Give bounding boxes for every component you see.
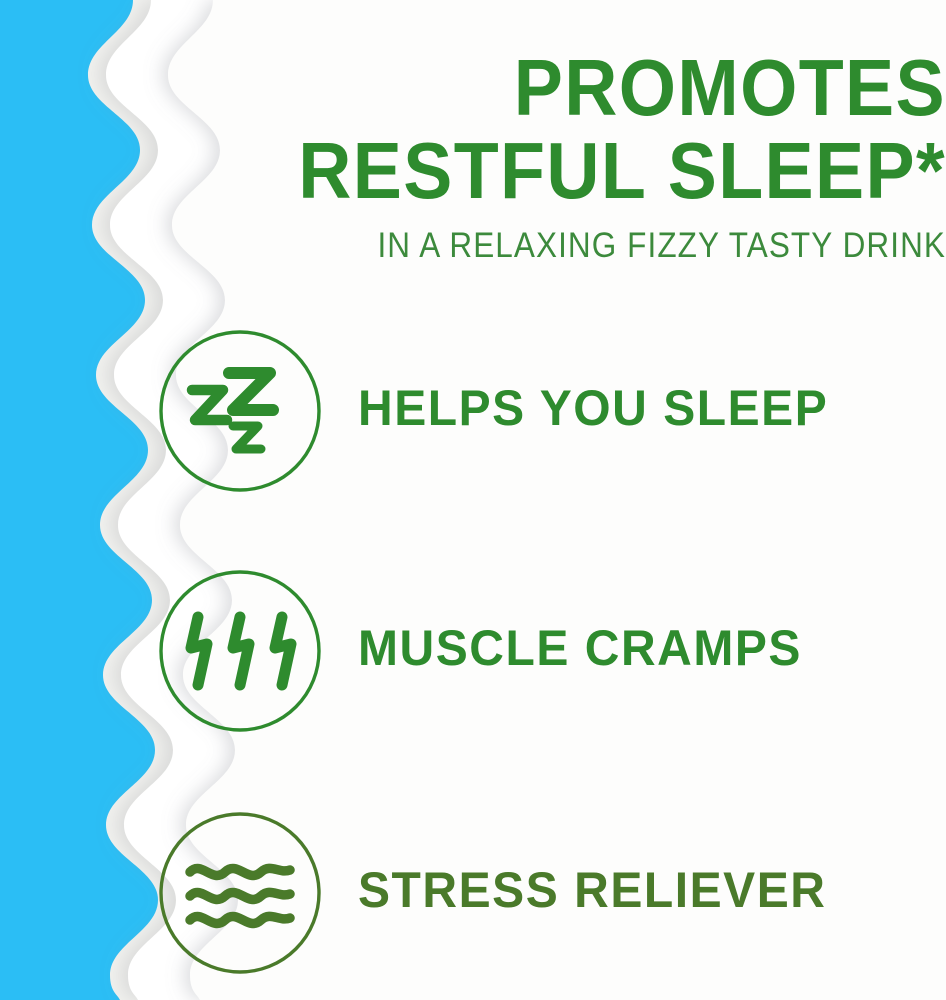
content-column: PROMOTES RESTFUL SLEEP* IN A RELAXING FI… — [0, 0, 946, 1000]
benefit-row: STRESS RELIEVER — [0, 805, 946, 975]
headline-block: PROMOTES RESTFUL SLEEP* IN A RELAXING FI… — [186, 48, 946, 266]
zzz-sleep-icon — [157, 328, 323, 494]
benefit-row: HELPS YOU SLEEP — [0, 323, 946, 493]
lightning-bolts-icon — [157, 568, 323, 734]
benefit-label-cramps: MUSCLE CRAMPS — [358, 619, 802, 677]
headline-subtitle: IN A RELAXING FIZZY TASTY DRINK — [262, 226, 946, 266]
benefit-label-stress: STRESS RELIEVER — [358, 861, 826, 919]
wavy-lines-icon — [157, 810, 323, 976]
headline-line-1: PROMOTES — [247, 48, 946, 127]
benefit-label-sleep: HELPS YOU SLEEP — [358, 379, 828, 437]
headline-line-2: RESTFUL SLEEP* — [247, 131, 946, 210]
benefit-row: MUSCLE CRAMPS — [0, 563, 946, 733]
promotional-banner: PROMOTES RESTFUL SLEEP* IN A RELAXING FI… — [0, 0, 946, 1000]
